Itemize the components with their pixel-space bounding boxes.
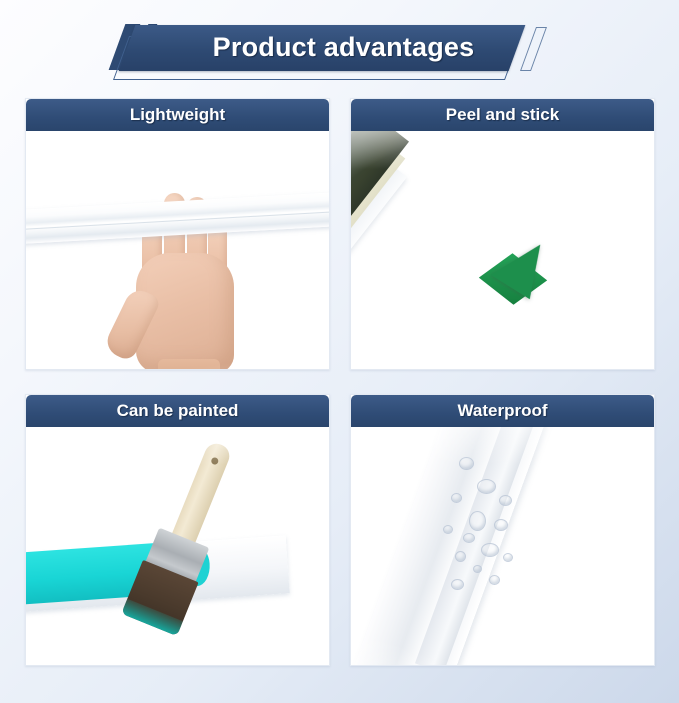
- panel-title-waterproof: Waterproof: [351, 395, 654, 427]
- water-droplet: [443, 525, 453, 534]
- panel-image-can-be-painted: [26, 427, 329, 665]
- water-droplet: [477, 479, 496, 494]
- panel-waterproof: Waterproof: [350, 394, 655, 666]
- molding-tip: [447, 299, 551, 341]
- panel-can-be-painted: Can be painted: [25, 394, 330, 666]
- panel-image-waterproof: [351, 427, 654, 665]
- water-droplet: [481, 543, 499, 557]
- water-droplet: [459, 457, 474, 470]
- panel-image-peel-and-stick: [351, 131, 654, 369]
- panel-lightweight: Lightweight: [25, 98, 330, 370]
- paint-brush-illustration: [113, 429, 266, 634]
- panel-image-lightweight: [26, 131, 329, 369]
- water-droplet: [473, 565, 482, 573]
- water-droplet: [469, 511, 486, 531]
- water-droplet: [489, 575, 500, 585]
- brush-handle: [169, 440, 233, 550]
- panel-title-lightweight: Lightweight: [26, 99, 329, 131]
- page-title: Product advantages: [0, 24, 679, 70]
- water-droplet: [451, 493, 462, 503]
- water-droplet: [451, 579, 464, 590]
- panel-title-can-be-painted: Can be painted: [26, 395, 329, 427]
- water-droplet: [499, 495, 512, 506]
- water-droplet: [494, 519, 508, 531]
- panel-title-peel-and-stick: Peel and stick: [351, 99, 654, 131]
- header-banner: Product advantages: [0, 0, 679, 92]
- wrist: [158, 359, 220, 369]
- product-advantages-infographic: Product advantages Lightweight: [0, 0, 679, 703]
- water-droplet: [455, 551, 466, 562]
- advantages-grid: Lightweight Peel and stick: [25, 98, 655, 666]
- water-droplet: [503, 553, 513, 562]
- water-droplet: [463, 533, 475, 543]
- panel-peel-and-stick: Peel and stick: [350, 98, 655, 370]
